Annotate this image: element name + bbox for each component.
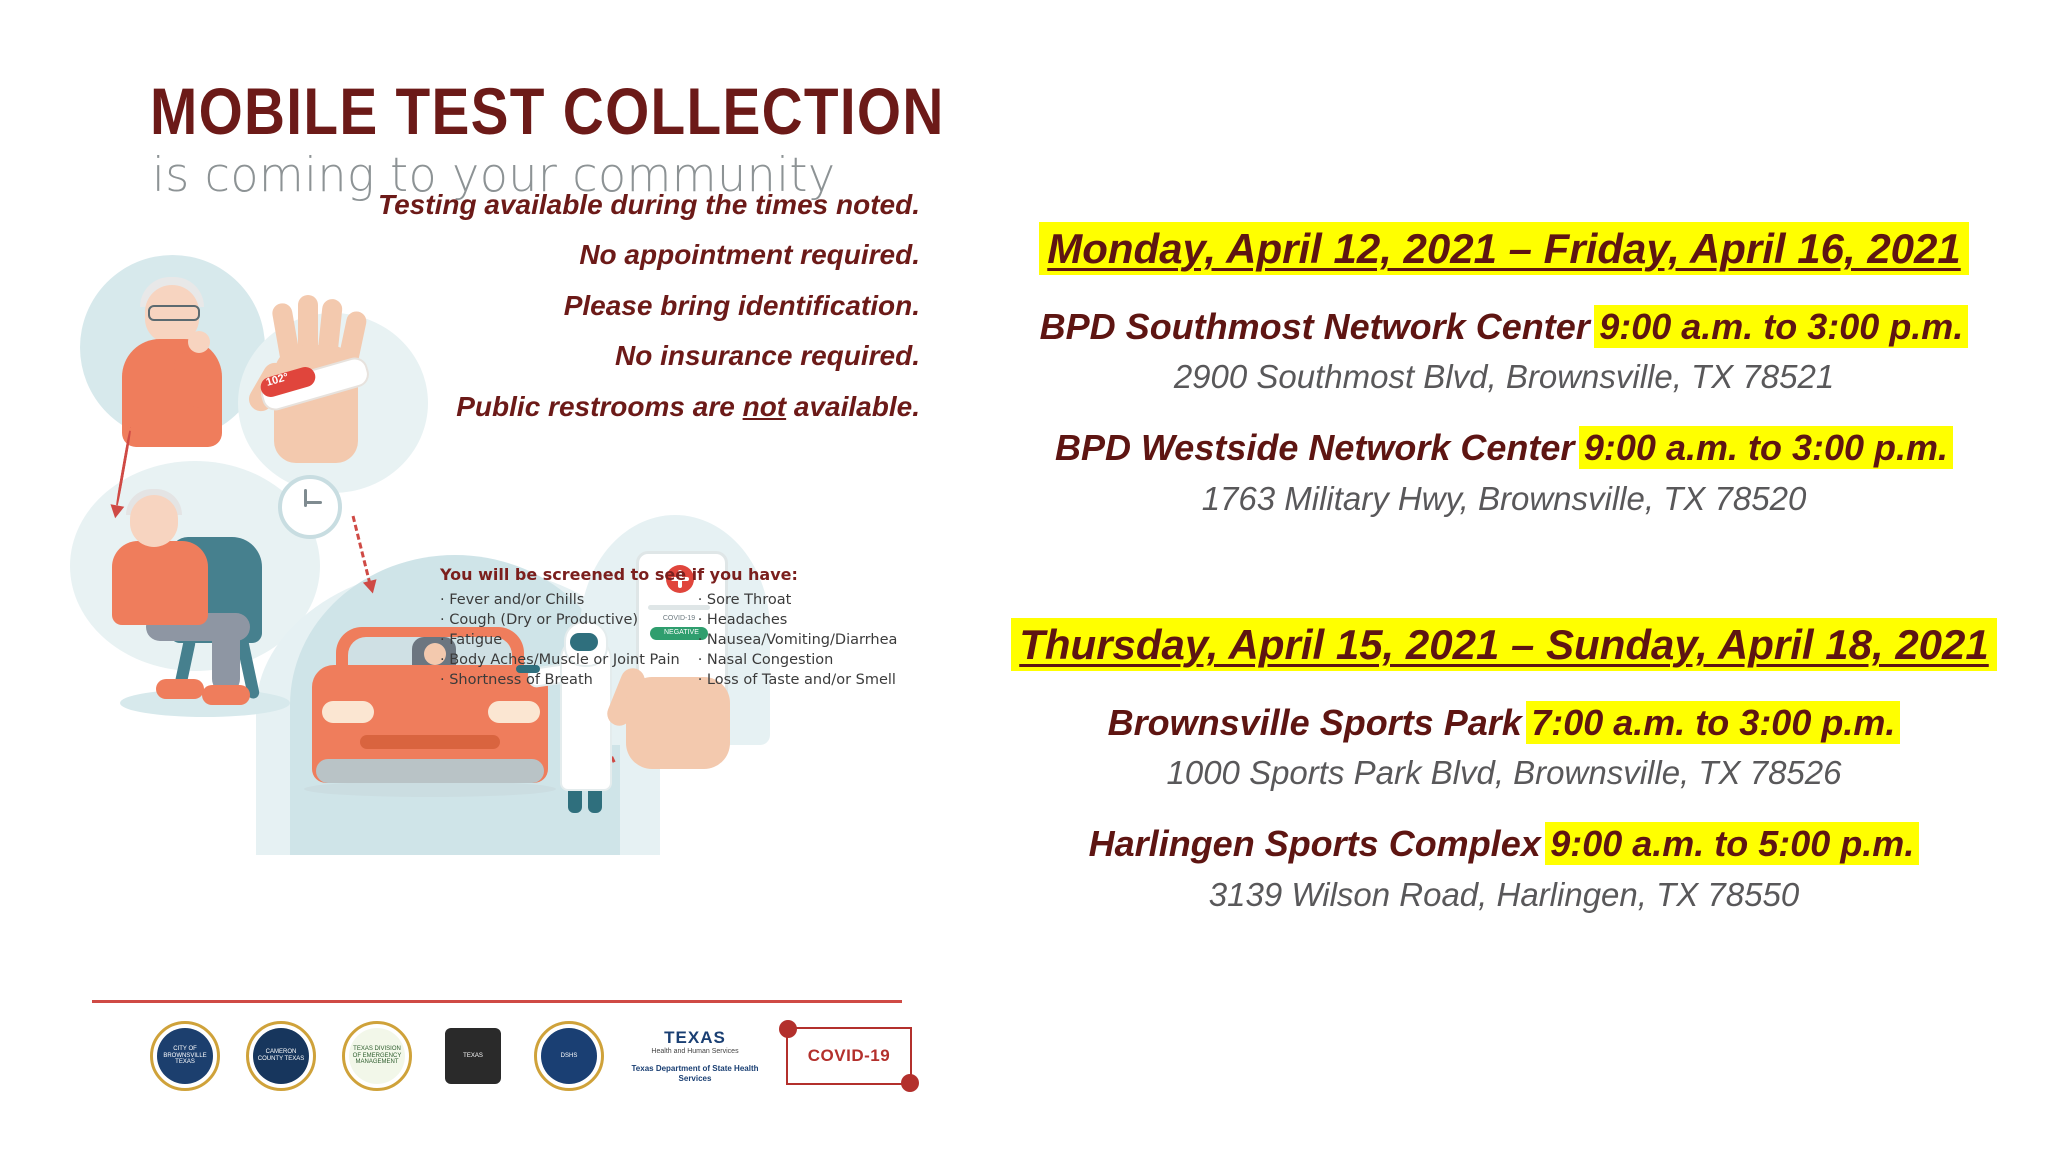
venue-time: 9:00 a.m. to 3:00 p.m. [1579, 426, 1953, 469]
screening-column-right: · Sore Throat · Headaches · Nausea/Vomit… [698, 590, 898, 690]
instruction-item: Testing available during the times noted… [260, 190, 920, 219]
covid-testing-illustration: 102° [60, 265, 740, 785]
car-grille-icon [360, 735, 500, 749]
hand-icon [626, 677, 730, 769]
schedule-block: Monday, April 12, 2021 – Friday, April 1… [960, 222, 2048, 518]
venue-name: Brownsville Sports Park [1108, 702, 1522, 743]
seal-label: TEXAS [438, 1021, 508, 1091]
screening-item: · Fever and/or Chills [440, 590, 680, 610]
agency-logos: CITY OF BROWNSVILLE TEXAS CAMERON COUNTY… [150, 1010, 910, 1102]
venue-name: Harlingen Sports Complex [1089, 823, 1541, 864]
restroom-notice-after: available. [786, 391, 920, 422]
venue-name: BPD Westside Network Center [1055, 427, 1574, 468]
texas-dshs-seal-icon: DSHS [534, 1021, 604, 1091]
texas-hhs-line3: Texas Department of State Health Service… [630, 1064, 760, 1083]
person-head-icon [130, 495, 178, 547]
car-bumper-icon [316, 759, 544, 783]
car-shadow [304, 781, 556, 797]
shoe-icon [156, 679, 204, 699]
city-of-brownsville-seal-icon: CITY OF BROWNSVILLE TEXAS [150, 1021, 220, 1091]
venue-time: 9:00 a.m. to 3:00 p.m. [1594, 305, 1968, 348]
covid-19-badge-label: COVID-19 [808, 1046, 890, 1066]
venue-row: BPD Westside Network Center 9:00 a.m. to… [960, 426, 2048, 469]
screening-item: · Loss of Taste and/or Smell [698, 670, 898, 690]
flow-arrow-icon [352, 516, 372, 585]
venue-row: Harlingen Sports Complex 9:00 a.m. to 5:… [960, 822, 2048, 865]
seal-label: TEXAS DIVISION OF EMERGENCY MANAGEMENT [342, 1021, 412, 1091]
schedule-date-range: Thursday, April 15, 2021 – Sunday, April… [1011, 618, 1997, 671]
person-body-icon [112, 541, 208, 625]
venue-time: 9:00 a.m. to 5:00 p.m. [1545, 822, 1919, 865]
screening-item: · Cough (Dry or Productive) [440, 610, 680, 630]
virus-icon [901, 1074, 919, 1092]
screening-item: · Fatigue [440, 630, 680, 650]
eyeglasses-icon [148, 305, 200, 321]
divider [92, 1000, 902, 1003]
covid-19-badge: COVID-19 [786, 1027, 912, 1085]
screening-box: You will be screened to see if you have:… [440, 565, 870, 690]
person-leg-icon [212, 621, 240, 693]
clock-hour-hand-icon [304, 489, 307, 507]
seal-label: CAMERON COUNTY TEXAS [246, 1021, 316, 1091]
seal-label: CITY OF BROWNSVILLE TEXAS [150, 1021, 220, 1091]
texas-hhs-logo: TEXAS Health and Human Services Texas De… [630, 1029, 760, 1084]
seal-label: DSHS [534, 1021, 604, 1091]
clock-minute-hand-icon [304, 501, 322, 504]
headlight-icon [322, 701, 374, 723]
texas-hhs-line2: Health and Human Services [630, 1048, 760, 1057]
screening-item: · Sore Throat [698, 590, 898, 610]
screening-item: · Headaches [698, 610, 898, 630]
cameron-county-seal-icon: CAMERON COUNTY TEXAS [246, 1021, 316, 1091]
venue-address: 2900 Southmost Blvd, Brownsville, TX 785… [960, 357, 2048, 397]
left-panel: MOBILE TEST COLLECTION is coming to your… [0, 0, 960, 1152]
venue-address: 1000 Sports Park Blvd, Brownsville, TX 7… [960, 753, 2048, 793]
screening-item: · Nausea/Vomiting/Diarrhea [698, 630, 898, 650]
virus-icon [779, 1020, 797, 1038]
texas-military-department-seal-icon: TEXAS [438, 1021, 508, 1091]
screening-column-left: · Fever and/or Chills · Cough (Dry or Pr… [440, 590, 680, 690]
screening-item: · Body Aches/Muscle or Joint Pain [440, 650, 680, 670]
screening-item: · Nasal Congestion [698, 650, 898, 670]
shoe-icon [202, 685, 250, 705]
venue-address: 3139 Wilson Road, Harlingen, TX 78550 [960, 875, 2048, 915]
headlight-icon [488, 701, 540, 723]
screening-title: You will be screened to see if you have: [440, 565, 870, 584]
venue-address: 1763 Military Hwy, Brownsville, TX 78520 [960, 479, 2048, 519]
flyer-page: MOBILE TEST COLLECTION is coming to your… [0, 0, 2048, 1152]
venue-time: 7:00 a.m. to 3:00 p.m. [1526, 701, 1900, 744]
schedule-panel: Monday, April 12, 2021 – Friday, April 1… [960, 0, 2048, 1152]
schedule-date-range: Monday, April 12, 2021 – Friday, April 1… [1039, 222, 1969, 275]
texas-division-emergency-management-seal-icon: TEXAS DIVISION OF EMERGENCY MANAGEMENT [342, 1021, 412, 1091]
venue-row: Brownsville Sports Park 7:00 a.m. to 3:0… [960, 701, 2048, 744]
person-hand-icon [188, 331, 210, 353]
page-title: MOBILE TEST COLLECTION [150, 78, 945, 144]
restroom-notice-emphasis: not [743, 391, 787, 422]
venue-row: BPD Southmost Network Center 9:00 a.m. t… [960, 305, 2048, 348]
schedule-block: Thursday, April 15, 2021 – Sunday, April… [960, 618, 2048, 914]
texas-hhs-line1: TEXAS [630, 1029, 760, 1046]
clock-icon [278, 475, 342, 539]
venue-name: BPD Southmost Network Center [1040, 306, 1590, 347]
screening-item: · Shortness of Breath [440, 670, 680, 690]
